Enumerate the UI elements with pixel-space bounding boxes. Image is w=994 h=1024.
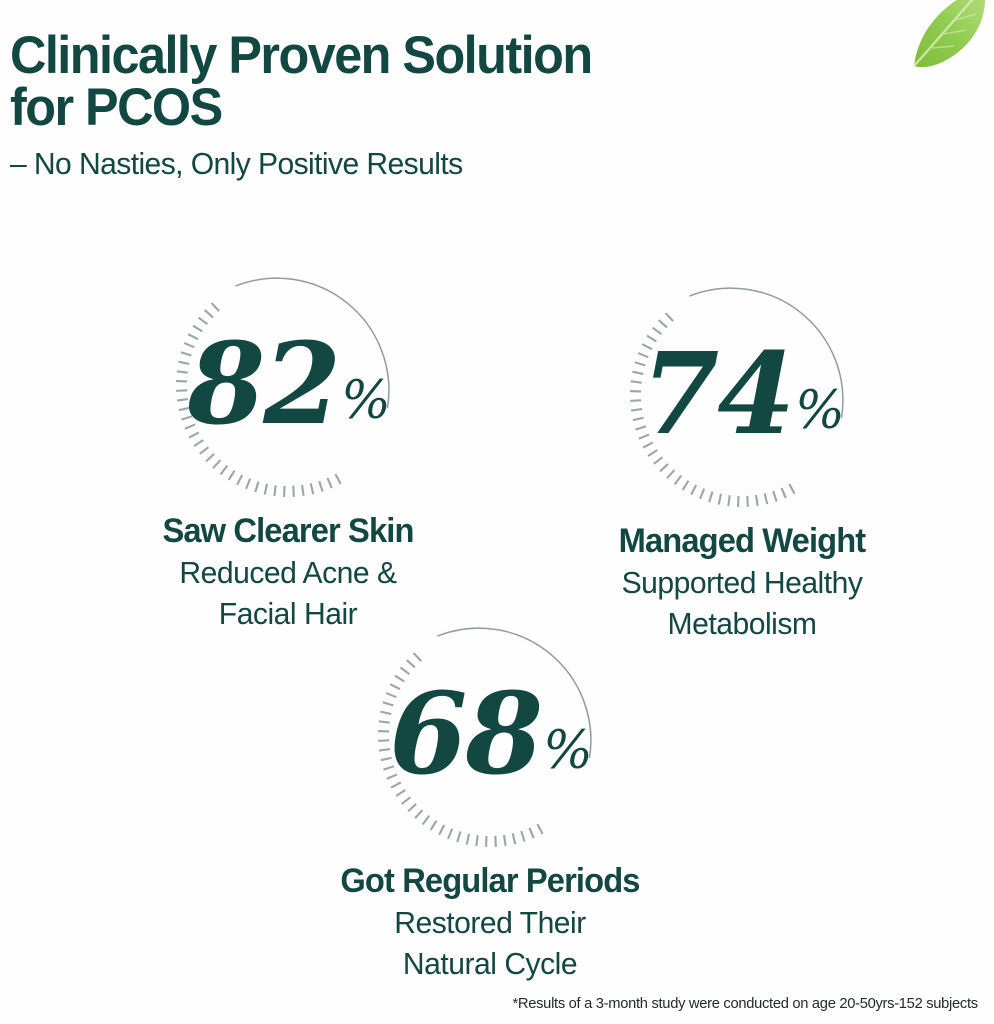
stat-value-1: 82 xyxy=(187,329,339,441)
leaf-icon xyxy=(892,0,994,84)
stat-title-1: Saw Clearer Skin xyxy=(67,512,509,550)
stat-card-clearer-skin: 82 % Saw Clearer Skin Reduced Acne & Fac… xyxy=(58,262,518,635)
stat-value-wrap-3: 68 % xyxy=(367,612,613,858)
stat-title-2: Managed Weight xyxy=(521,522,963,560)
stat-ring-2: 74 % xyxy=(619,272,865,518)
footnote: *Results of a 3-month study were conduct… xyxy=(513,995,978,1012)
stat-percent-symbol-1: % xyxy=(341,375,390,427)
stat-ring-1: 82 % xyxy=(165,262,411,508)
page-title: Clinically Proven Solution for PCOS xyxy=(10,30,770,135)
stat-description-3: Restored Their Natural Cycle xyxy=(267,903,713,985)
heading-block: Clinically Proven Solution for PCOS – No… xyxy=(10,30,810,181)
stat-value-2: 74 xyxy=(641,339,793,451)
leaf-decoration xyxy=(892,0,994,84)
stat-value-3: 68 xyxy=(389,679,541,791)
stat-percent-symbol-3: % xyxy=(543,725,592,777)
stat-ring-3: 68 % xyxy=(367,612,613,858)
stat-value-wrap-2: 74 % xyxy=(619,272,865,518)
page-subtitle: – No Nasties, Only Positive Results xyxy=(10,147,786,181)
stat-card-regular-periods: 68 % Got Regular Periods Restored Their … xyxy=(260,612,720,985)
stat-title-3: Got Regular Periods xyxy=(269,862,711,900)
stat-percent-symbol-2: % xyxy=(795,385,844,437)
infographic-page: Clinically Proven Solution for PCOS – No… xyxy=(0,0,994,1024)
stat-card-managed-weight: 74 % Managed Weight Supported Healthy Me… xyxy=(512,272,972,645)
stat-value-wrap-1: 82 % xyxy=(165,262,411,508)
